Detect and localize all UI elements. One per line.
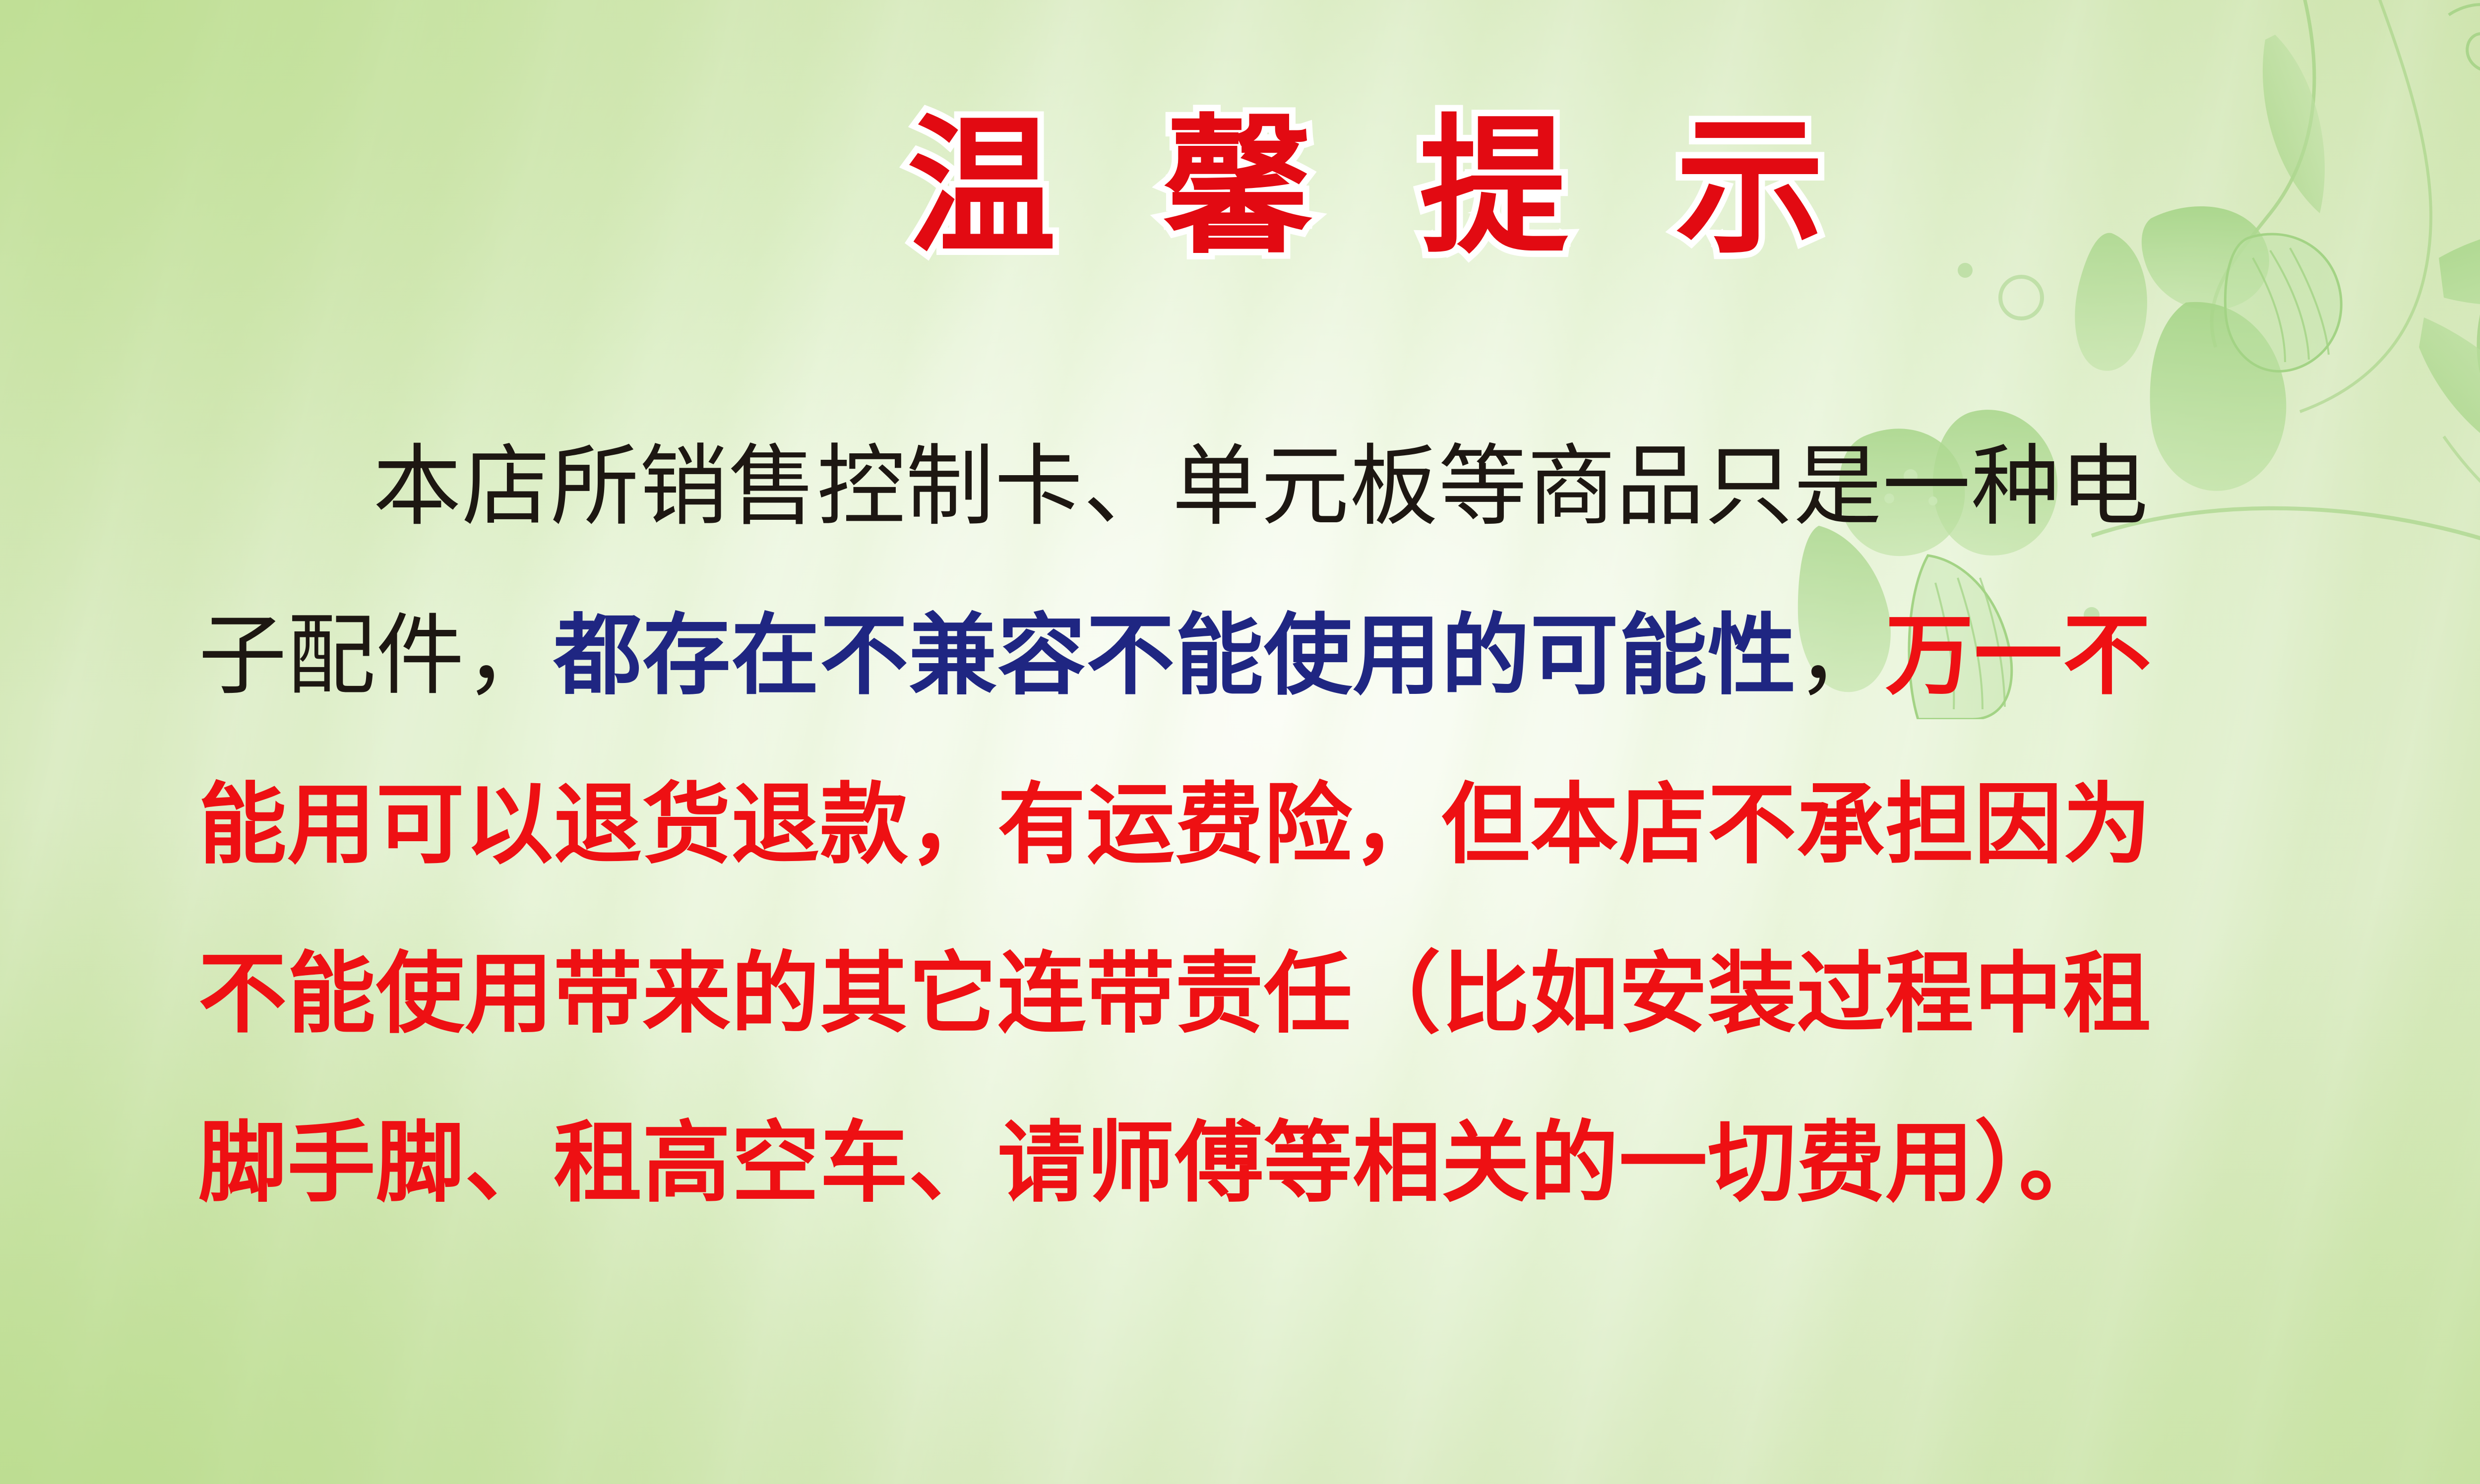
notice-poster: 温 馨 提 示 本店所销售控制卡、单元板等商品只是一种电子配件，都存在不兼容不能… (0, 0, 2480, 1484)
title-block: 温 馨 提 示 (0, 104, 2480, 271)
notice-text-segment-black: 本店所销售控制卡、单元板等商品只是一种电 (373, 435, 2149, 538)
notice-text-segment-red: 能用可以退货退款，有运费险，但本店不承担因为 (198, 773, 2152, 876)
notice-text-segment-black: 子配件， (198, 604, 554, 707)
notice-line: 能用可以退货退款，有运费险，但本店不承担因为 (198, 740, 2480, 909)
notice-line: 不能使用带来的其它连带责任（比如安装过程中租 (198, 909, 2480, 1078)
notice-text-segment-red: 脚手脚、租高空车、请师傅等相关的一切费用）。 (198, 1112, 2108, 1214)
notice-body: 本店所销售控制卡、单元板等商品只是一种电子配件，都存在不兼容不能使用的可能性，万… (198, 402, 2480, 1247)
notice-line: 脚手脚、租高空车、请师傅等相关的一切费用）。 (198, 1078, 2480, 1247)
poster-title: 温 馨 提 示 (879, 104, 1852, 271)
notice-text-segment-red: 不能使用带来的其它连带责任（比如安装过程中租 (198, 942, 2152, 1045)
notice-text-segment-blue: 都存在不兼容不能使用的可能性 (554, 604, 1797, 707)
notice-text-segment-black: ， (1797, 604, 1885, 707)
notice-text-segment-red: 万一不 (1885, 604, 2152, 707)
notice-line: 本店所销售控制卡、单元板等商品只是一种电 (198, 402, 2480, 571)
notice-line: 子配件，都存在不兼容不能使用的可能性，万一不 (198, 571, 2480, 740)
